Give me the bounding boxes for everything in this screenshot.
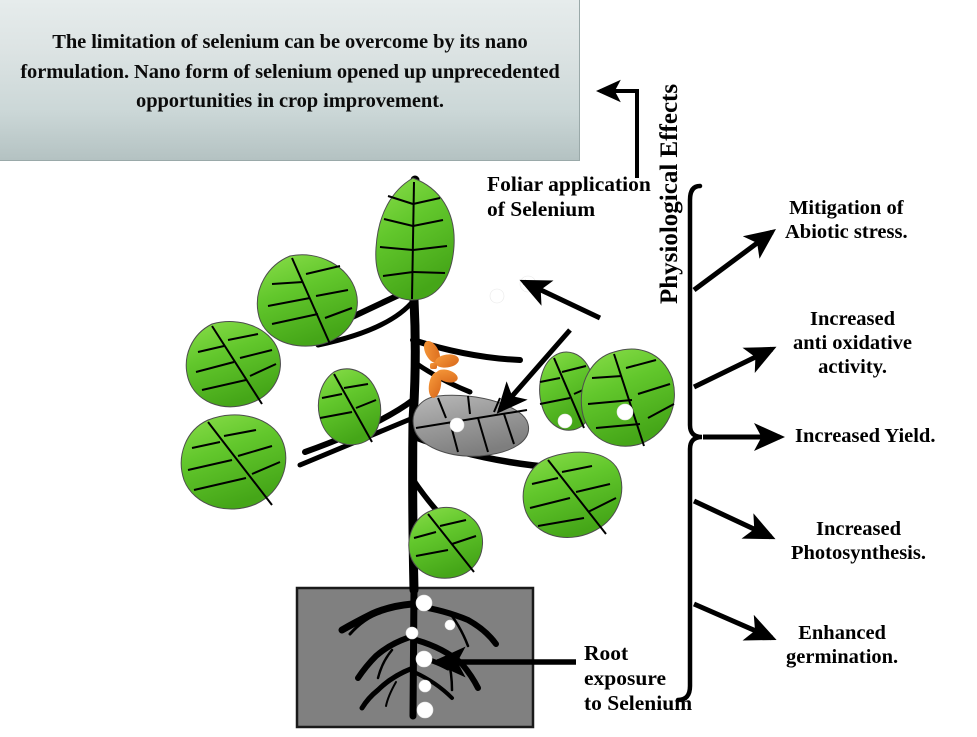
- leaf-stressed: [413, 395, 528, 456]
- selenium-nanoparticle: [520, 276, 536, 292]
- leaf-healthy: [318, 369, 380, 445]
- leaf-healthy: [257, 255, 357, 346]
- selenium-nanoparticle: [450, 418, 464, 432]
- selenium-nanoparticle: [445, 620, 455, 630]
- effect-increased-anti-oxidative-activity: Increased anti oxidative activity.: [793, 308, 912, 380]
- leaf-healthy: [181, 415, 286, 509]
- label-root-exposure: Root exposure to Selenium: [584, 641, 692, 716]
- effect-increased-yield: Increased Yield.: [795, 425, 935, 449]
- leaf-healthy: [409, 507, 483, 578]
- selenium-nanoparticle: [490, 289, 504, 303]
- effect-increased-photosynthesis: Increased Photosynthesis.: [791, 518, 926, 566]
- leaf-healthy: [581, 349, 674, 446]
- selenium-nanoparticle: [416, 595, 432, 611]
- selenium-nanoparticle: [417, 702, 433, 718]
- effect-mitigation-abiotic-stress: Mitigation of Abiotic stress.: [785, 197, 908, 245]
- selenium-nanoparticle: [617, 404, 633, 420]
- info-callout-box: The limitation of selenium can be overco…: [0, 0, 580, 161]
- info-callout-text: The limitation of selenium can be overco…: [14, 28, 566, 117]
- selenium-nanoparticle: [558, 414, 572, 428]
- diagram-canvas: The limitation of selenium can be overco…: [0, 0, 977, 737]
- selenium-nanoparticle: [419, 680, 431, 692]
- leaf-healthy: [376, 178, 454, 300]
- selenium-nanoparticle: [416, 651, 432, 667]
- label-physiological-effects: Physiological Effects: [656, 4, 686, 304]
- label-foliar-application: Foliar application of Selenium: [487, 172, 651, 222]
- leaf-healthy: [186, 322, 280, 407]
- selenium-nanoparticle: [406, 627, 418, 639]
- leaf-group: [181, 178, 674, 578]
- leaf-healthy: [523, 452, 622, 537]
- effect-enhanced-germination: Enhanced germination.: [786, 622, 898, 670]
